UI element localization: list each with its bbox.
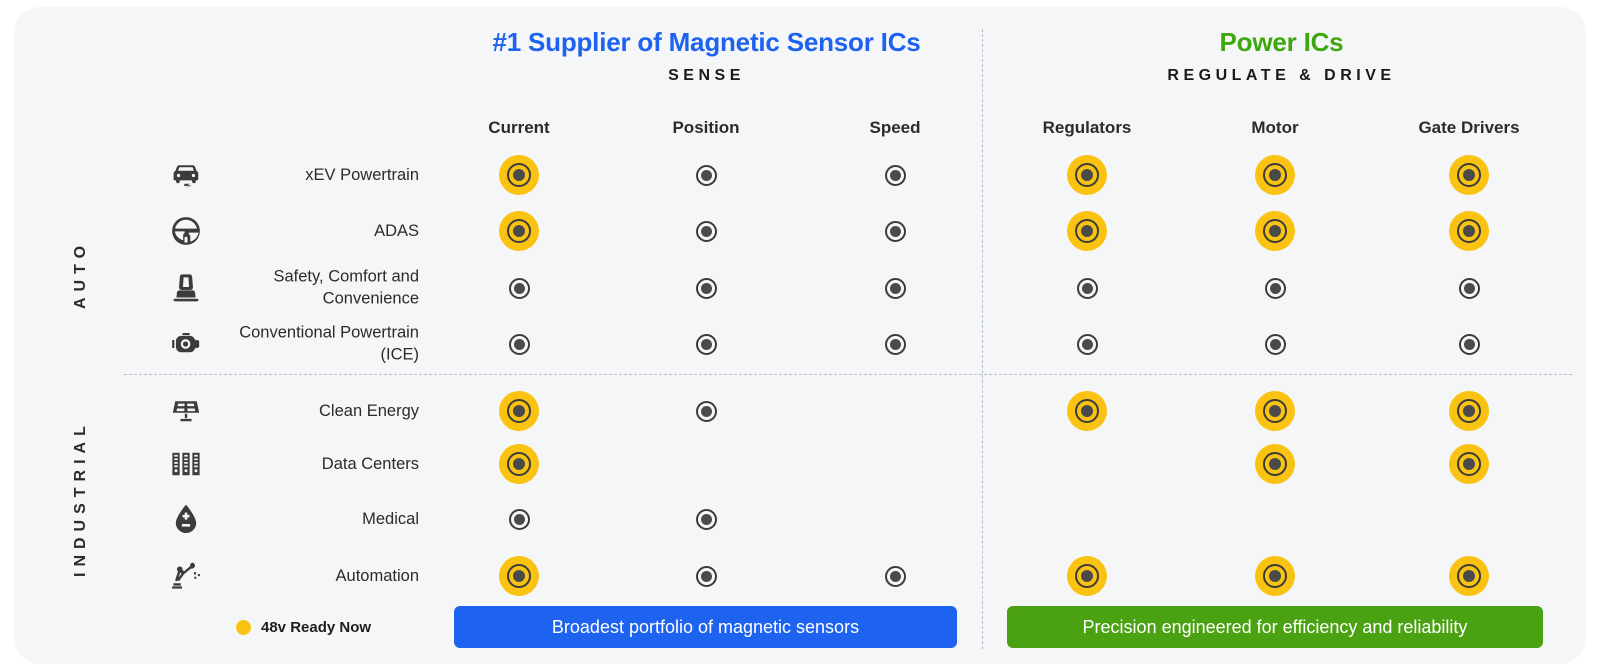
solar-panel-icon	[164, 389, 208, 433]
sense-section-title: #1 Supplier of Magnetic Sensor ICs	[454, 27, 959, 58]
blood-drop-icon	[164, 497, 208, 541]
matrix-cell-marker-highlighted	[1449, 556, 1489, 596]
legend-label: 48v Ready Now	[261, 619, 371, 636]
matrix-cell-marker	[1449, 324, 1489, 364]
column-header-current: Current	[429, 118, 609, 138]
matrix-cell-marker-highlighted	[1255, 155, 1295, 195]
robot-arm-icon	[164, 554, 208, 598]
power-section-title: Power ICs	[1009, 27, 1554, 58]
column-header-speed: Speed	[805, 118, 985, 138]
group-label-auto: AUTO	[72, 240, 90, 309]
electric-car-icon	[164, 153, 208, 197]
matrix-cell-marker	[875, 556, 915, 596]
sense-cta-button[interactable]: Broadest portfolio of magnetic sensors	[454, 606, 957, 648]
legend: 48v Ready Now	[236, 619, 371, 636]
matrix-cell-marker-highlighted	[1067, 391, 1107, 431]
row-label: Clean Energy	[224, 400, 419, 422]
matrix-cell-marker-highlighted	[499, 391, 539, 431]
matrix-cell-marker-highlighted	[499, 444, 539, 484]
matrix-cell-marker	[1449, 268, 1489, 308]
matrix-cell-marker-highlighted	[1067, 556, 1107, 596]
column-header-position: Position	[616, 118, 796, 138]
group-horizontal-divider	[124, 374, 1572, 375]
matrix-cell-marker	[499, 499, 539, 539]
row-label: Data Centers	[224, 453, 419, 475]
matrix-cell-marker	[686, 499, 726, 539]
column-header-motor: Motor	[1185, 118, 1365, 138]
matrix-cell-marker-highlighted	[1255, 556, 1295, 596]
matrix-cell-marker	[875, 324, 915, 364]
matrix-cell-marker	[499, 268, 539, 308]
matrix-cell-marker-highlighted	[499, 211, 539, 251]
column-header-regulators: Regulators	[997, 118, 1177, 138]
matrix-cell-marker	[875, 155, 915, 195]
matrix-cell-marker-highlighted	[1449, 211, 1489, 251]
legend-marker-icon	[236, 620, 251, 635]
matrix-cell-marker	[686, 211, 726, 251]
matrix-cell-marker-highlighted	[1449, 391, 1489, 431]
power-section-subtitle: REGULATE & DRIVE	[1009, 67, 1554, 85]
matrix-cell-marker	[875, 268, 915, 308]
row-label: Safety, Comfort and Convenience	[224, 266, 419, 311]
power-cta-button[interactable]: Precision engineered for efficiency and …	[1007, 606, 1543, 648]
matrix-cell-marker-highlighted	[1255, 444, 1295, 484]
matrix-cell-marker	[1255, 268, 1295, 308]
matrix-cell-marker	[686, 268, 726, 308]
matrix-cell-marker-highlighted	[1255, 211, 1295, 251]
matrix-cell-marker-highlighted	[499, 155, 539, 195]
matrix-cell-marker	[1067, 268, 1107, 308]
engine-icon	[164, 322, 208, 366]
matrix-cell-marker	[499, 324, 539, 364]
matrix-cell-marker-highlighted	[1449, 444, 1489, 484]
row-label: ADAS	[224, 220, 419, 242]
matrix-cell-marker	[686, 391, 726, 431]
matrix-cell-marker	[686, 556, 726, 596]
row-label: Medical	[224, 508, 419, 530]
car-seat-icon	[164, 266, 208, 310]
steering-wheel-icon	[164, 209, 208, 253]
server-rack-icon	[164, 442, 208, 486]
row-label: xEV Powertrain	[224, 164, 419, 186]
matrix-cell-marker-highlighted	[1067, 155, 1107, 195]
row-label: Automation	[224, 565, 419, 587]
matrix-cell-marker	[686, 155, 726, 195]
row-label: Conventional Powertrain (ICE)	[224, 322, 419, 367]
matrix-cell-marker	[1067, 324, 1107, 364]
matrix-cell-marker	[1255, 324, 1295, 364]
matrix-cell-marker-highlighted	[499, 556, 539, 596]
capability-matrix-card: #1 Supplier of Magnetic Sensor ICs SENSE…	[14, 7, 1586, 664]
matrix-cell-marker	[875, 211, 915, 251]
column-header-gate-drivers: Gate Drivers	[1379, 118, 1559, 138]
sense-section-subtitle: SENSE	[454, 67, 959, 85]
group-label-industrial: INDUSTRIAL	[72, 420, 90, 577]
matrix-cell-marker-highlighted	[1255, 391, 1295, 431]
matrix-cell-marker-highlighted	[1449, 155, 1489, 195]
matrix-cell-marker-highlighted	[1067, 211, 1107, 251]
matrix-cell-marker	[686, 324, 726, 364]
